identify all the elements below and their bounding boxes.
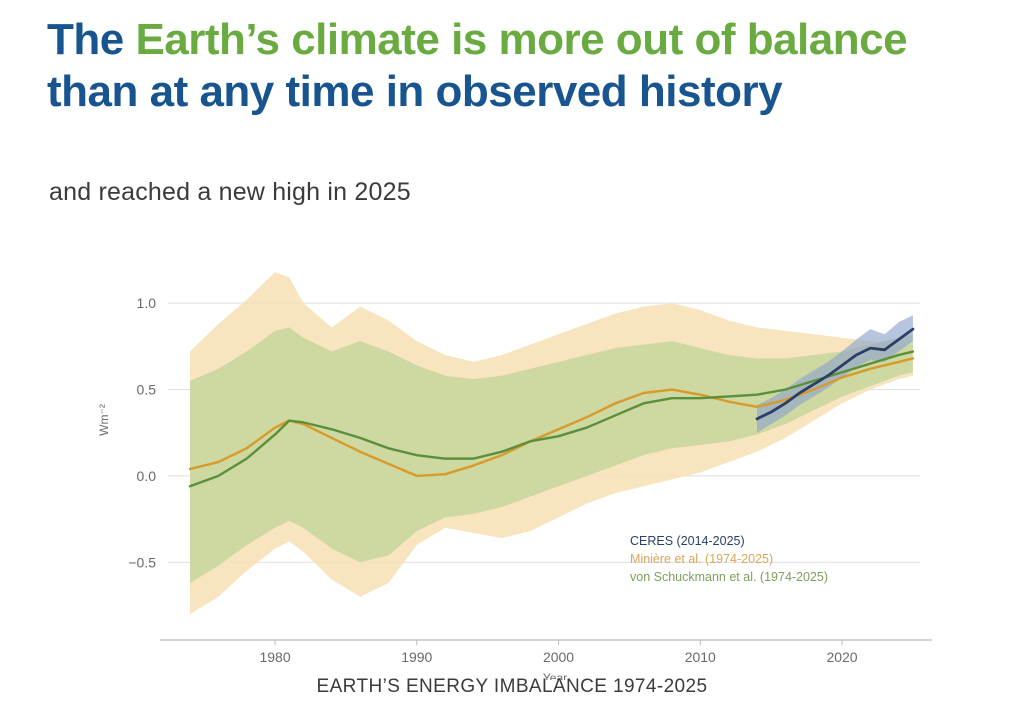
y-axis-tick-label: 0.0 [137,468,157,484]
x-axis-tick-label: 1990 [401,649,432,665]
y-axis-title: Wm⁻² [97,404,111,436]
headline-part-1: The [47,15,135,64]
legend-item: CERES (2014-2025) [630,534,745,548]
y-axis-tick-label: 1.0 [137,295,157,311]
x-axis-tick-label: 2020 [826,649,857,665]
page-headline: The Earth’s climate is more out of balan… [47,14,947,118]
legend-item: von Schuckmann et al. (1974-2025) [630,570,828,584]
energy-imbalance-chart: −0.50.00.51.019801990200020102020YearWm⁻… [0,240,1024,680]
headline-part-3: than at any time in observed history [47,67,782,116]
page-subtitle: and reached a new high in 2025 [49,178,411,207]
y-axis-tick-label: −0.5 [128,554,156,570]
x-axis-tick-label: 2010 [685,649,716,665]
x-axis-tick-label: 1980 [259,649,290,665]
y-axis-tick-label: 0.5 [137,382,157,398]
legend-item: Minière et al. (1974-2025) [630,552,773,566]
chart-caption: EARTH’S ENERGY IMBALANCE 1974-2025 [0,676,1024,698]
chart-container: −0.50.00.51.019801990200020102020YearWm⁻… [0,240,1024,720]
x-axis-tick-label: 2000 [543,649,574,665]
headline-part-2: Earth’s climate is more out of balance [135,15,907,64]
